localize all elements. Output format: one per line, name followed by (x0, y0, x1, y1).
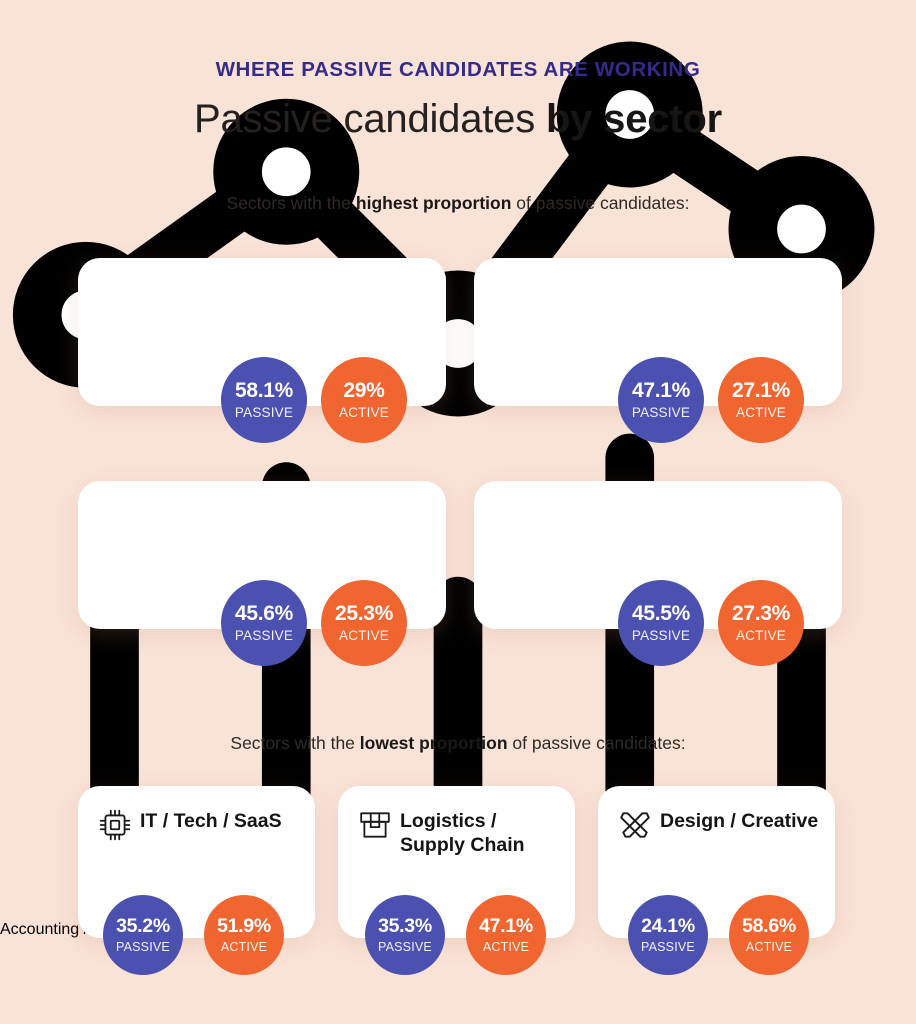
sector-title-design-creative: Design / Creative (660, 810, 818, 834)
bubble-active-education: 27.1% ACTIVE (718, 357, 804, 443)
section-label-highest-pre: Sectors with the (227, 193, 356, 213)
infographic-page: WHERE PASSIVE CANDIDATES ARE WORKING Pas… (0, 0, 916, 1024)
bubble-value: 27.3% (732, 603, 790, 624)
bubble-active-design-creative: 58.6% ACTIVE (729, 895, 809, 975)
bubble-label: PASSIVE (632, 406, 690, 420)
section-label-lowest-bold: lowest proportion (360, 733, 508, 753)
bubble-value: 29% (343, 380, 384, 401)
bubble-passive-education: 47.1% PASSIVE (618, 357, 704, 443)
bubble-label: ACTIVE (736, 629, 786, 643)
sector-title-it-tech-saas: IT / Tech / SaaS (140, 810, 282, 834)
section-label-highest-bold: highest proportion (356, 193, 512, 213)
bubble-label: PASSIVE (632, 629, 690, 643)
section-label-highest: Sectors with the highest proportion of p… (0, 193, 916, 214)
bubble-label: ACTIVE (746, 941, 792, 954)
bubble-active-healthcare: 27.3% ACTIVE (718, 580, 804, 666)
section-label-lowest-pre: Sectors with the (230, 733, 359, 753)
sector-title-logistics-supply-chain: Logistics / Supply Chain (400, 810, 525, 858)
bubble-label: PASSIVE (641, 941, 695, 954)
eyebrow-heading: WHERE PASSIVE CANDIDATES ARE WORKING (0, 58, 916, 82)
bubble-value: 45.5% (632, 603, 690, 624)
bubble-label: ACTIVE (736, 406, 786, 420)
bubble-value: 25.3% (335, 603, 393, 624)
bubble-value: 58.6% (742, 917, 796, 937)
title-regular: Passive candidates (194, 97, 546, 141)
bubble-active-it-tech-saas: 51.9% ACTIVE (204, 895, 284, 975)
page-title: Passive candidates by sector (0, 97, 916, 142)
bubble-passive-healthcare: 45.5% PASSIVE (618, 580, 704, 666)
bubble-passive-it-tech-saas: 35.2% PASSIVE (103, 895, 183, 975)
bubble-value: 45.6% (235, 603, 293, 624)
bubble-value: 47.1% (479, 917, 533, 937)
bubble-value: 27.1% (732, 380, 790, 401)
bubble-label: ACTIVE (221, 941, 267, 954)
eyebrow-text: WHERE PASSIVE CANDIDATES ARE WORKING (216, 58, 701, 81)
package-box-icon (358, 808, 392, 842)
bubble-passive-retail: 45.6% PASSIVE (221, 580, 307, 666)
bubble-label: ACTIVE (339, 629, 389, 643)
bubble-label: ACTIVE (339, 406, 389, 420)
section-label-lowest-post: of passive candidates: (508, 733, 686, 753)
section-label-highest-post: of passive candidates: (511, 193, 689, 213)
bubble-value: 47.1% (632, 380, 690, 401)
bubble-label: ACTIVE (483, 941, 529, 954)
bubble-passive-logistics-supply-chain: 35.3% PASSIVE (365, 895, 445, 975)
bubble-passive-design-creative: 24.1% PASSIVE (628, 895, 708, 975)
bubble-label: PASSIVE (378, 941, 432, 954)
pen-ruler-icon (618, 808, 652, 842)
bubble-value: 24.1% (641, 917, 695, 937)
section-label-lowest: Sectors with the lowest proportion of pa… (0, 733, 916, 754)
cpu-chip-icon (98, 808, 132, 842)
bubble-label: PASSIVE (235, 629, 293, 643)
bubble-label: PASSIVE (235, 406, 293, 420)
bubble-active-retail: 25.3% ACTIVE (321, 580, 407, 666)
bubble-value: 51.9% (217, 917, 271, 937)
bubble-label: PASSIVE (116, 941, 170, 954)
bubble-active-accounting-finance: 29% ACTIVE (321, 357, 407, 443)
title-bold: by sector (546, 97, 722, 141)
bubble-active-logistics-supply-chain: 47.1% ACTIVE (466, 895, 546, 975)
bubble-value: 35.2% (116, 917, 170, 937)
bubble-value: 35.3% (378, 917, 432, 937)
bubble-passive-accounting-finance: 58.1% PASSIVE (221, 357, 307, 443)
bubble-value: 58.1% (235, 380, 293, 401)
